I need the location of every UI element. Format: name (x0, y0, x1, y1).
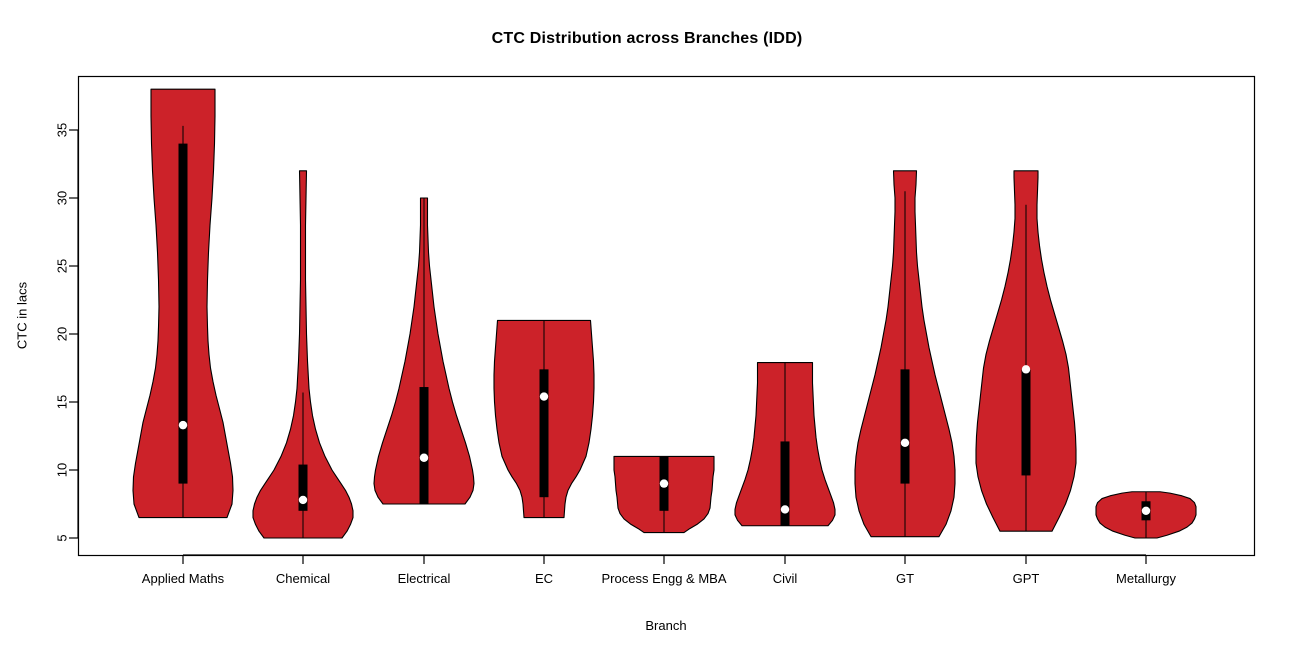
violin-gt[interactable] (855, 171, 955, 537)
violin-iqr-box (179, 144, 188, 484)
violin-plot-figure: CTC Distribution across Branches (IDD) 5… (0, 0, 1294, 653)
violin-iqr-box (1022, 369, 1031, 475)
x-axis-tick-label: Civil (773, 571, 798, 586)
violin-ec[interactable] (494, 320, 594, 517)
violin-median-dot (420, 454, 428, 462)
x-axis-tick-label: GPT (1013, 571, 1040, 586)
y-axis-tick-label: 15 (55, 395, 70, 409)
y-axis: 5101520253035 (55, 123, 79, 542)
y-axis-tick-label: 5 (55, 534, 70, 541)
violin-median-dot (781, 505, 789, 513)
violin-chemical[interactable] (253, 171, 353, 538)
violin-median-dot (1022, 365, 1030, 373)
x-axis-tick-label: Applied Maths (142, 571, 225, 586)
violin-median-dot (1142, 507, 1150, 515)
x-axis-tick-label: Metallurgy (1116, 571, 1176, 586)
violin-iqr-box (540, 369, 549, 497)
x-axis-tick-label: EC (535, 571, 553, 586)
y-axis-tick-label: 35 (55, 123, 70, 137)
x-axis: Applied MathsChemicalElectricalECProcess… (142, 555, 1177, 586)
violin-median-dot (299, 496, 307, 504)
x-axis-tick-label: Electrical (398, 571, 451, 586)
violin-median-dot (901, 439, 909, 447)
violin-median-dot (179, 421, 187, 429)
x-axis-title: Branch (645, 618, 686, 633)
chart-canvas: 5101520253035CTC in lacsApplied MathsChe… (0, 0, 1294, 653)
x-axis-tick-label: GT (896, 571, 914, 586)
x-axis-tick-label: Chemical (276, 571, 330, 586)
violin-iqr-box (901, 369, 910, 483)
violin-applied-maths[interactable] (133, 89, 233, 517)
violin-median-dot (540, 392, 548, 400)
y-axis-tick-label: 20 (55, 327, 70, 341)
y-axis-title: CTC in lacs (15, 281, 30, 349)
y-axis-tick-label: 25 (55, 259, 70, 273)
violin-civil[interactable] (735, 363, 835, 526)
y-axis-tick-label: 30 (55, 191, 70, 205)
violin-metallurgy[interactable] (1096, 492, 1196, 538)
y-axis-tick-label: 10 (55, 463, 70, 477)
x-axis-tick-label: Process Engg & MBA (602, 571, 727, 586)
violin-median-dot (660, 479, 668, 487)
violin-process-engg-mba[interactable] (614, 456, 714, 532)
violin-gpt[interactable] (976, 171, 1076, 531)
violin-electrical[interactable] (374, 198, 474, 504)
violin-iqr-box (420, 387, 429, 504)
